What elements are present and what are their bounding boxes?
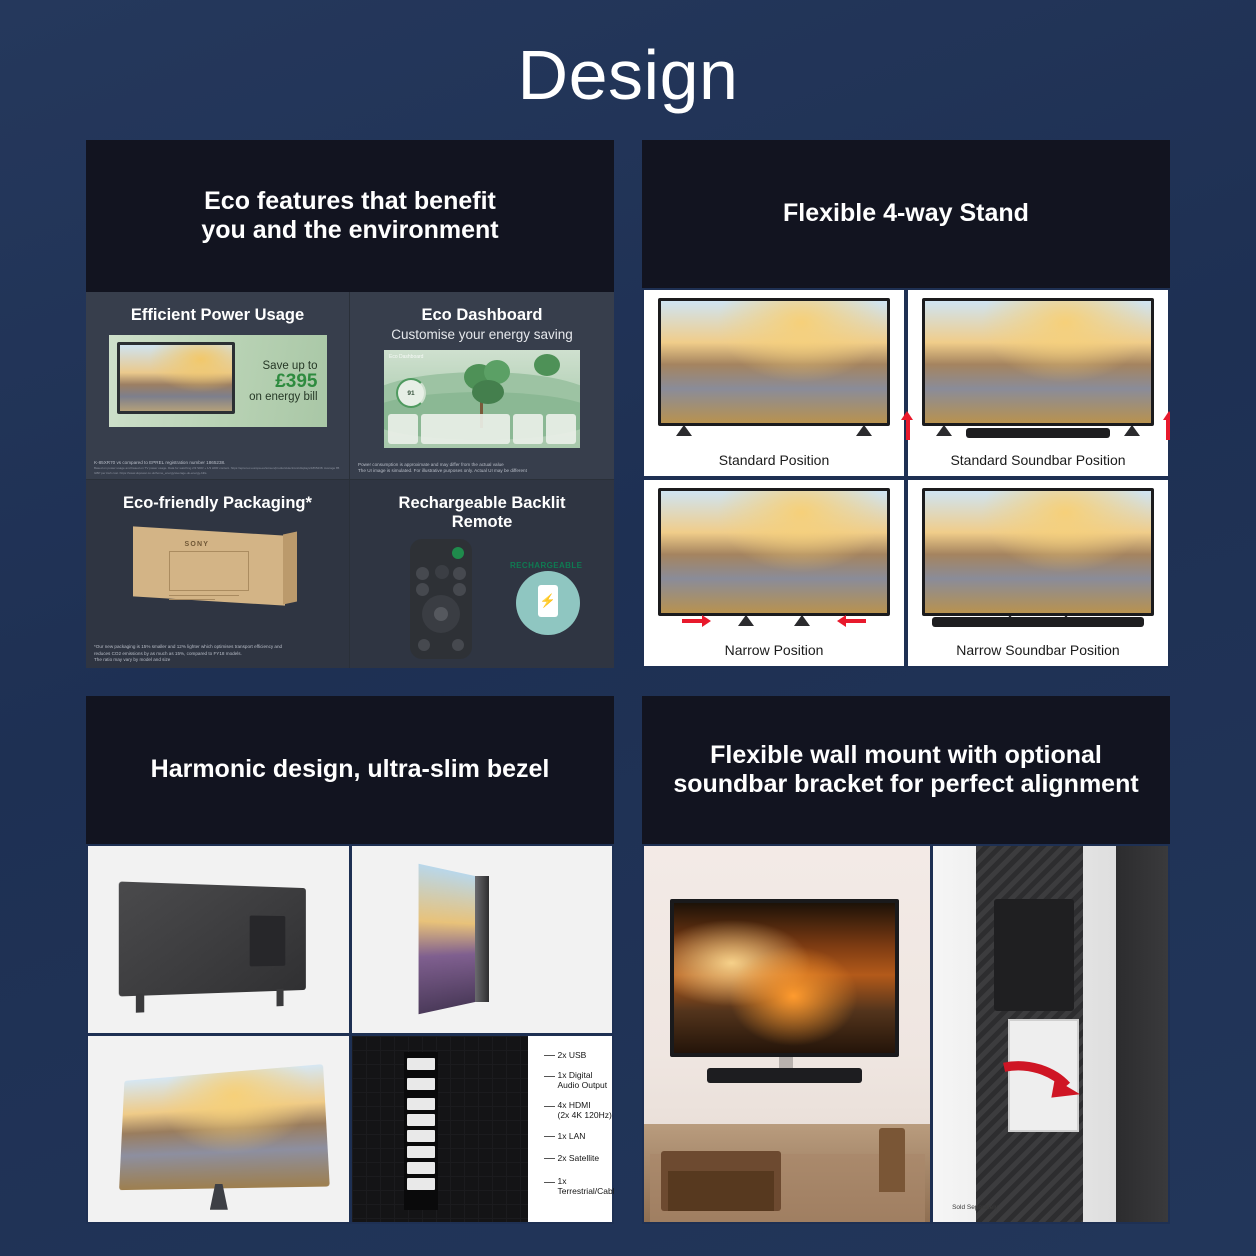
eco-dashboard-image: Eco Dashboard 91 <box>384 350 580 448</box>
leader-dash <box>544 1076 555 1077</box>
box-tv-outline <box>169 551 249 591</box>
living-room-scene <box>644 846 930 1222</box>
leader-dash <box>544 1106 555 1107</box>
tv-screen <box>661 491 887 613</box>
tv-leg <box>794 616 810 626</box>
eco-cell-subtitle: Customise your energy saving <box>391 327 573 342</box>
tv-screen <box>120 345 232 411</box>
energy-gauge: 91 <box>396 378 426 408</box>
tv-illustration <box>117 342 235 414</box>
tv-rear-closeup <box>352 1036 528 1223</box>
eco-footnote-small: Based on power usage and based on TV pow… <box>94 466 341 475</box>
efficient-power-image: Save up to £395 on energy bill <box>109 335 327 427</box>
remote-title-line1: Rechargeable Backlit <box>399 494 566 513</box>
dashboard-tile <box>388 414 418 444</box>
tv-illustration <box>658 488 890 616</box>
position-label: Standard Position <box>719 452 830 468</box>
remote-image: RECHARGEABLE <box>382 539 582 659</box>
tv-rear-view <box>88 846 349 1033</box>
gauge-value: 91 <box>398 380 424 406</box>
eco-footnote: K-85XR70 vs compared to EPREL registrati… <box>94 460 341 475</box>
wall-heading-line1: Flexible wall mount with optional <box>673 741 1138 771</box>
dashboard-tile <box>546 414 576 444</box>
panel-harmonic-design: Harmonic design, ultra-slim bezel <box>86 696 614 1224</box>
dashboard-label: Eco Dashboard <box>389 354 423 360</box>
coffee-table <box>661 1151 781 1211</box>
eco-footnote-line2: The UI image is simulated. For illustrat… <box>358 468 606 475</box>
wall-mounted-tv <box>670 899 899 1057</box>
tv-leg <box>1124 426 1140 436</box>
leader-dash <box>544 1158 555 1159</box>
port-label: 1x Terrestrial/Cable <box>558 1176 615 1197</box>
battery-icon <box>538 585 558 617</box>
leader-dash <box>544 1055 555 1056</box>
arrow-right-icon <box>682 619 704 623</box>
tv-illustration <box>922 298 1154 426</box>
eco-cell-packaging: Eco-friendly Packaging* SONY *Our new pa… <box>86 480 350 668</box>
port-label: 1x LAN <box>558 1131 586 1142</box>
wall-heading-line2: soundbar bracket for perfect alignment <box>673 770 1138 800</box>
side-stool <box>879 1128 905 1192</box>
tv-screen <box>418 864 474 1015</box>
tv-side-profile-view <box>352 846 613 1033</box>
tv-leg <box>856 426 872 436</box>
sony-logo: SONY <box>185 541 210 548</box>
position-label: Narrow Position <box>725 642 824 658</box>
port-label: 1x Digital Audio Output <box>558 1070 608 1091</box>
eco-footnote: Power consumption is approximate and may… <box>358 462 606 475</box>
tv-screen <box>674 903 895 1053</box>
port-label-list: 2x USB 1x Digital Audio Output 4x HDMI (… <box>528 1036 613 1223</box>
soundbar <box>966 428 1110 438</box>
remote-body <box>410 539 472 659</box>
eco-cell-remote: Rechargeable Backlit Remote <box>350 480 614 668</box>
terrestrial-port <box>407 1178 435 1190</box>
eco-cell-title: Eco Dashboard <box>421 306 542 325</box>
dashboard-tile <box>421 414 511 444</box>
eco-cell-efficient-power: Efficient Power Usage Save up to £395 on… <box>86 292 350 480</box>
wall-body: Sold Separately <box>642 844 1170 1224</box>
stand-position-narrow-soundbar: Narrow Soundbar Position <box>908 480 1168 666</box>
remote-title-line2: Remote <box>399 513 566 532</box>
tv-angled-view <box>88 1036 349 1223</box>
tv-screen <box>661 301 887 423</box>
eco-cell-title: Eco-friendly Packaging* <box>123 494 312 513</box>
leader-dash <box>544 1136 555 1137</box>
tv-leg <box>676 426 692 436</box>
hdmi-port <box>407 1130 435 1142</box>
home-icon <box>452 639 464 651</box>
port-label: 4x HDMI (2x 4K 120Hz) <box>558 1100 612 1121</box>
tv-leg <box>936 426 952 436</box>
stand-position-standard: Standard Position <box>644 290 904 476</box>
tree-leaf-icon <box>534 354 560 376</box>
harmonic-heading: Harmonic design, ultra-slim bezel <box>86 696 614 844</box>
hdmi-port <box>407 1114 435 1126</box>
box-print-line <box>169 595 239 596</box>
tv-leg <box>277 989 284 1007</box>
position-label: Standard Soundbar Position <box>950 452 1125 468</box>
digital-audio-port <box>407 1078 435 1090</box>
tv-back-panel <box>1116 846 1168 1222</box>
eco-cell-eco-dashboard: Eco Dashboard Customise your energy savi… <box>350 292 614 480</box>
savings-text: Save up to £395 on energy bill <box>235 335 327 427</box>
tv-screen <box>925 491 1151 613</box>
eco-heading: Eco features that benefit you and the en… <box>86 140 614 292</box>
mount-arm <box>994 899 1074 1012</box>
dpad-icon <box>422 595 460 633</box>
arrow-up-icon <box>901 411 913 420</box>
tv-back-panel <box>119 882 306 997</box>
menu-button <box>453 583 466 596</box>
arrow-right-icon <box>702 615 711 627</box>
eco-body: Efficient Power Usage Save up to £395 on… <box>86 292 614 668</box>
eco-footnote-main: K-85XR70 vs compared to EPREL registrati… <box>94 460 341 467</box>
mic-icon <box>435 565 449 579</box>
tv-screen <box>925 301 1151 423</box>
tv-side-edge <box>475 876 489 1002</box>
arrow-up-icon <box>906 418 910 440</box>
box-side-face <box>283 532 297 605</box>
dashboard-tile <box>513 414 543 444</box>
back-icon <box>418 639 430 651</box>
tv-illustration <box>658 298 890 426</box>
eco-footnote: *Our new packaging is 15% smaller and 12… <box>94 644 341 664</box>
lan-port <box>407 1146 435 1158</box>
hdmi-port <box>407 1098 435 1110</box>
curved-arrow-icon <box>999 1049 1083 1109</box>
usb-port <box>407 1058 435 1070</box>
tv-illustration <box>922 488 1154 616</box>
tv-legs <box>658 426 890 436</box>
tv-leg <box>136 994 144 1013</box>
rechargeable-badge <box>516 571 580 635</box>
eco-footnote-line1: Power consumption is approximate and may… <box>358 462 606 469</box>
harmonic-body: 2x USB 1x Digital Audio Output 4x HDMI (… <box>86 844 614 1224</box>
arrow-up-icon <box>1166 418 1170 440</box>
sold-separately-note: Sold Separately <box>952 1204 998 1211</box>
panel-wall-mount: Flexible wall mount with optional soundb… <box>642 696 1170 1224</box>
soundbar <box>932 617 1144 627</box>
port-label: 2x USB <box>558 1050 587 1061</box>
tv-angled-body <box>113 1070 323 1188</box>
satellite-port <box>407 1162 435 1174</box>
eco-cell-title: Rechargeable Backlit Remote <box>399 494 566 533</box>
arrow-left-icon <box>844 619 866 623</box>
save-label: Save up to <box>263 360 318 372</box>
box-print-line <box>169 599 215 600</box>
save-suffix: on energy bill <box>249 391 317 403</box>
eco-footnote-line3: The ratio may vary by model and size <box>94 657 341 664</box>
dashboard-tiles <box>388 414 576 444</box>
panel-grid: Eco features that benefit you and the en… <box>0 140 1256 1224</box>
panel-flexible-stand: Flexible 4-way Stand Standard Position <box>642 140 1170 668</box>
page-title: Design <box>0 0 1256 140</box>
arrow-up-icon <box>1163 411 1170 420</box>
stand-position-narrow: Narrow Position <box>644 480 904 666</box>
vent-grid <box>352 1036 528 1223</box>
soundbar <box>707 1068 862 1083</box>
power-icon <box>452 547 464 559</box>
packaging-box-image: SONY <box>133 527 303 605</box>
wall-heading: Flexible wall mount with optional soundb… <box>642 696 1170 844</box>
tv-screen <box>119 1064 330 1190</box>
eco-footnote-line2: reduces CO2 emissions by as much as 15%,… <box>94 651 341 658</box>
save-amount: £395 <box>275 372 317 392</box>
input-icon <box>416 583 429 596</box>
stand-heading: Flexible 4-way Stand <box>642 140 1170 288</box>
tv-ports-diagram: 2x USB 1x Digital Audio Output 4x HDMI (… <box>352 1036 613 1223</box>
wall-mount-closeup: Sold Separately <box>933 846 1168 1222</box>
port-label: 2x Satellite <box>558 1153 600 1164</box>
rechargeable-label: RECHARGEABLE <box>510 561 582 570</box>
settings-icon <box>453 567 466 580</box>
leader-dash <box>544 1182 555 1183</box>
eco-heading-line1: Eco features that benefit <box>201 187 498 217</box>
eco-footnote-line1: *Our new packaging is 15% smaller and 12… <box>94 644 341 651</box>
arrow-left-icon <box>837 615 846 627</box>
panel-eco-features: Eco features that benefit you and the en… <box>86 140 614 668</box>
stand-position-standard-soundbar: Standard Soundbar Position <box>908 290 1168 476</box>
eco-heading-line2: you and the environment <box>201 216 498 246</box>
eco-cell-title: Efficient Power Usage <box>131 306 304 325</box>
tv-leg <box>738 616 754 626</box>
stand-body: Standard Position Standard Soundbar Posi… <box>642 288 1170 668</box>
position-label: Narrow Soundbar Position <box>956 642 1119 658</box>
tv-button <box>416 567 429 580</box>
